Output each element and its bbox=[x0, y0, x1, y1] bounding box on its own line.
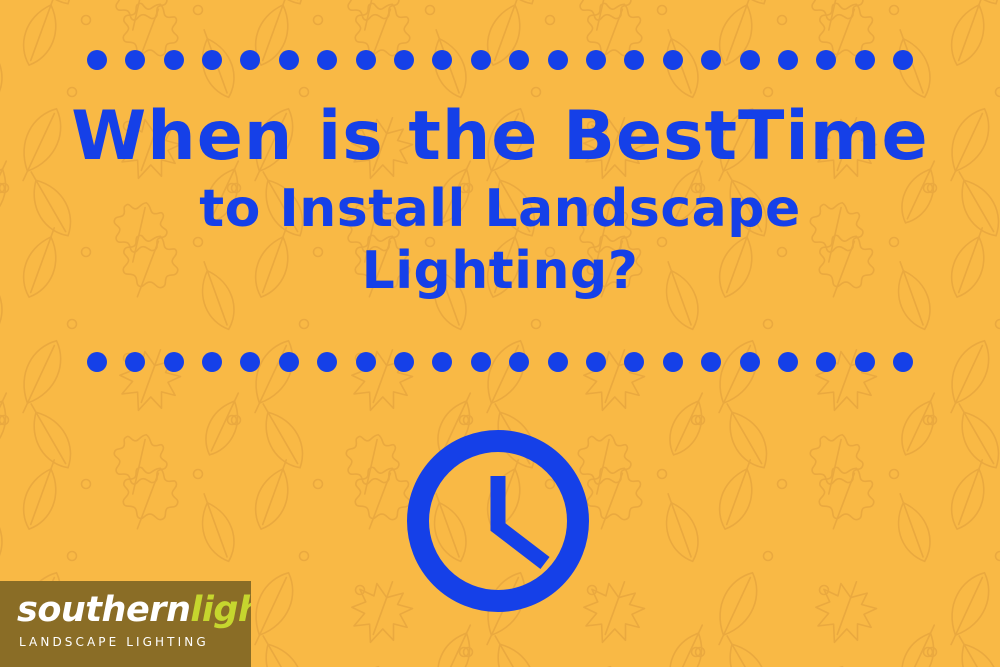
divider-dot bbox=[548, 352, 568, 372]
divider-dot bbox=[855, 50, 875, 70]
divider-dot bbox=[586, 50, 606, 70]
divider-dot bbox=[279, 50, 299, 70]
divider-dot bbox=[624, 50, 644, 70]
divider-dot bbox=[202, 352, 222, 372]
dotted-divider-bottom bbox=[0, 351, 1000, 373]
divider-dot bbox=[816, 352, 836, 372]
divider-dot bbox=[663, 352, 683, 372]
divider-dot bbox=[893, 352, 913, 372]
logo-word-southern: southern bbox=[17, 590, 190, 630]
clock-icon bbox=[403, 426, 593, 616]
poster-canvas: When is the BestTime to Install Landscap… bbox=[0, 0, 1000, 667]
divider-dot bbox=[701, 352, 721, 372]
logo-word-lights: lights bbox=[190, 590, 251, 630]
divider-dot bbox=[509, 352, 529, 372]
divider-dot bbox=[279, 352, 299, 372]
divider-dot bbox=[125, 50, 145, 70]
divider-dot bbox=[164, 50, 184, 70]
divider-dot bbox=[202, 50, 222, 70]
headline-line-2: to Install Landscape bbox=[0, 183, 1000, 235]
divider-dot bbox=[740, 352, 760, 372]
divider-dot bbox=[893, 50, 913, 70]
dotted-divider-top bbox=[0, 49, 1000, 71]
page-title: When is the BestTime to Install Landscap… bbox=[0, 103, 1000, 297]
divider-dot bbox=[471, 352, 491, 372]
logo-wordmark: southernlights bbox=[17, 593, 251, 628]
divider-dot bbox=[778, 50, 798, 70]
divider-dot bbox=[740, 50, 760, 70]
divider-dot bbox=[432, 50, 452, 70]
divider-dot bbox=[164, 352, 184, 372]
divider-dot bbox=[317, 50, 337, 70]
logo-tagline: LANDSCAPE LIGHTING bbox=[19, 635, 209, 649]
divider-dot bbox=[432, 352, 452, 372]
clock-icon-wrapper bbox=[403, 426, 593, 616]
divider-dot bbox=[663, 50, 683, 70]
divider-dot bbox=[394, 50, 414, 70]
divider-dot bbox=[87, 50, 107, 70]
divider-dot bbox=[701, 50, 721, 70]
headline-line-3: Lighting? bbox=[0, 245, 1000, 297]
divider-dot bbox=[624, 352, 644, 372]
divider-dot bbox=[548, 50, 568, 70]
divider-dot bbox=[317, 352, 337, 372]
divider-dot bbox=[240, 50, 260, 70]
divider-dot bbox=[509, 50, 529, 70]
divider-dot bbox=[778, 352, 798, 372]
divider-dot bbox=[356, 50, 376, 70]
divider-dot bbox=[240, 352, 260, 372]
divider-dot bbox=[816, 50, 836, 70]
divider-dot bbox=[87, 352, 107, 372]
divider-dot bbox=[855, 352, 875, 372]
divider-dot bbox=[125, 352, 145, 372]
brand-logo: southernlights LANDSCAPE LIGHTING bbox=[0, 581, 251, 667]
divider-dot bbox=[356, 352, 376, 372]
divider-dot bbox=[471, 50, 491, 70]
headline-line-1: When is the BestTime bbox=[0, 103, 1000, 171]
divider-dot bbox=[394, 352, 414, 372]
divider-dot bbox=[586, 352, 606, 372]
